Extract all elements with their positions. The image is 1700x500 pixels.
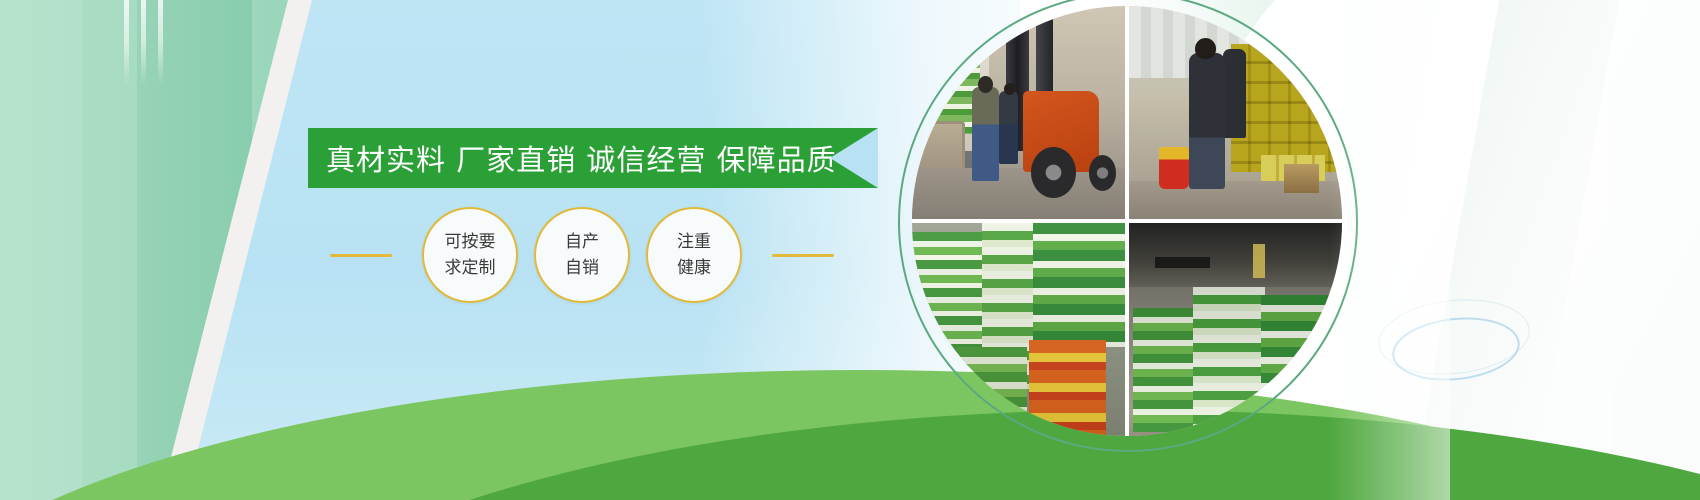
badge-custom-made[interactable]: 可按要 求定制	[422, 207, 518, 303]
headline-text: 真材实料 厂家直销 诚信经营 保障品质	[308, 137, 837, 179]
bg-stripe-1	[0, 0, 82, 500]
badge-health-focus-line2: 健康	[677, 255, 711, 281]
badge-health-focus-line1: 注重	[677, 229, 711, 255]
badge-custom-made-line2: 求定制	[445, 255, 496, 281]
badge-self-produced-line1: 自产	[565, 229, 599, 255]
feature-badges: 可按要 求定制 自产 自销 注重 健康	[330, 200, 830, 310]
bg-accent-line-3	[158, 0, 163, 85]
badge-self-produced[interactable]: 自产 自销	[534, 207, 630, 303]
ribbon-chevron-notch-icon	[830, 128, 878, 188]
bg-accent-line-1	[124, 0, 129, 85]
collage-photo-worker-crates	[1129, 6, 1342, 219]
badge-health-focus[interactable]: 注重 健康	[646, 207, 742, 303]
accent-line-right	[772, 254, 834, 257]
collage-photo-warehouse-interior	[1129, 223, 1342, 436]
promo-banner: 真材实料 厂家直销 诚信经营 保障品质 可按要 求定制 自产 自销 注重 健康	[0, 0, 1700, 500]
photo-collage	[898, 0, 1358, 452]
bg-accent-line-2	[141, 0, 146, 85]
collage-grid	[912, 6, 1342, 436]
badge-self-produced-line2: 自销	[565, 255, 599, 281]
badge-custom-made-line1: 可按要	[445, 229, 496, 255]
headline-ribbon: 真材实料 厂家直销 诚信经营 保障品质	[308, 128, 878, 188]
accent-line-left	[330, 254, 392, 257]
collage-photo-carton-stacks	[912, 223, 1125, 436]
collage-photo-forklift	[912, 6, 1125, 219]
